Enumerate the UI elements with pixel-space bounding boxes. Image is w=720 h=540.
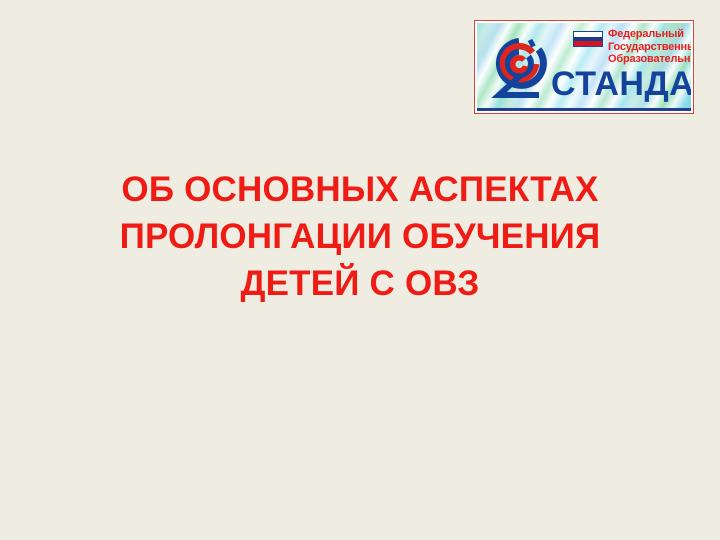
fgos-wordmark: СТАНДАРТ <box>551 67 691 101</box>
page-title-line-2: ПРОЛОНГАЦИИ ОБУЧЕНИЯ <box>40 213 680 260</box>
fgos-logo: Федеральный Государственный Образователь… <box>474 20 694 114</box>
fgos-logo-canvas: Федеральный Государственный Образователь… <box>477 23 691 111</box>
fgos-word-educational: Образовательный <box>608 53 691 66</box>
fgos-logo-bottom-rule <box>477 108 691 111</box>
presentation-slide: Федеральный Государственный Образователь… <box>0 0 720 540</box>
page-title: ОБ ОСНОВНЫХ АСПЕКТАХ ПРОЛОНГАЦИИ ОБУЧЕНИ… <box>40 166 680 307</box>
fgos-spiral-emblem <box>483 29 555 107</box>
page-title-line-3: ДЕТЕЙ С ОВЗ <box>40 260 680 307</box>
russian-flag-icon <box>573 31 603 47</box>
fgos-word-state: Государственный <box>608 41 691 54</box>
page-title-line-1: ОБ ОСНОВНЫХ АСПЕКТАХ <box>40 166 680 213</box>
fgos-word-federal: Федеральный <box>608 28 691 41</box>
fgos-words: Федеральный Государственный Образователь… <box>608 28 691 66</box>
